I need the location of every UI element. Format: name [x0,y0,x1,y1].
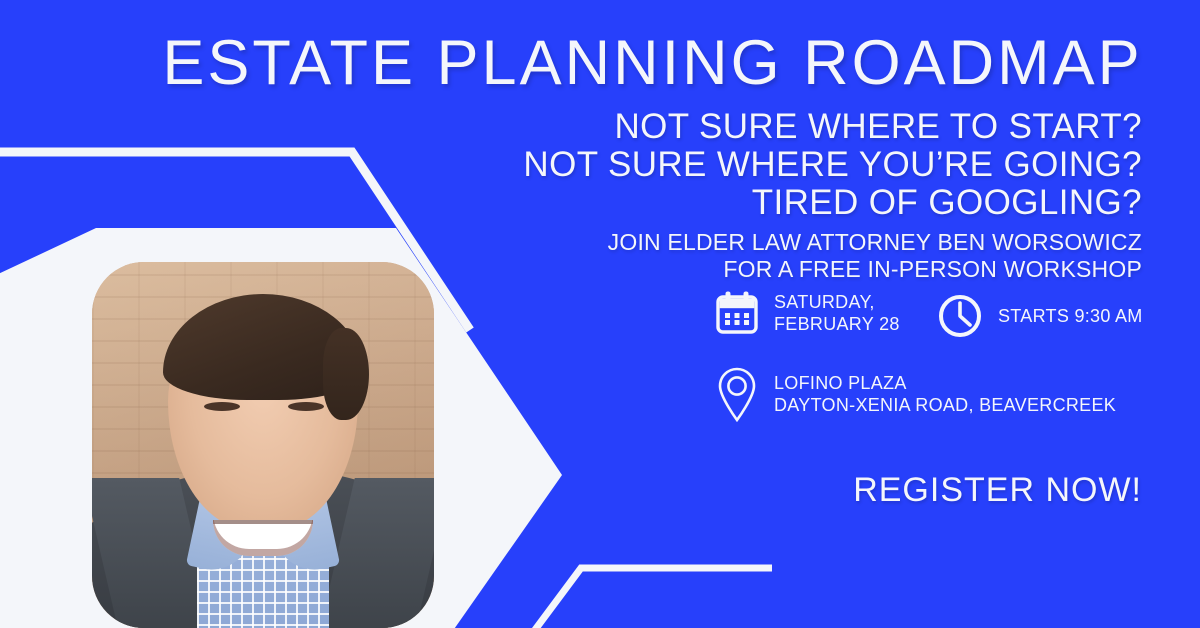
event-date-row: SATURDAY, FEBRUARY 28 [714,290,900,336]
lead-line-1: JOIN ELDER LAW ATTORNEY BEN WORSOWICZ [422,229,1142,256]
event-date-line-1: SATURDAY, [774,291,900,313]
event-poster: ESTATE PLANNING ROADMAP NOT SURE WHERE T… [0,0,1200,628]
event-time-row: STARTS 9:30 AM [936,292,1143,340]
poster-subheadline: NOT SURE WHERE TO START? NOT SURE WHERE … [422,108,1142,222]
subheadline-line-3: TIRED OF GOOGLING? [422,184,1142,222]
event-date-line-2: FEBRUARY 28 [774,313,900,335]
event-time-line-1: STARTS 9:30 AM [998,305,1143,327]
event-location-line-2: DAYTON-XENIA ROAD, BEAVERCREEK [774,394,1116,416]
calendar-icon [714,290,760,336]
photo-eye-right [288,402,324,411]
event-location-row: LOFINO PLAZA DAYTON-XENIA ROAD, BEAVERCR… [714,366,1116,422]
speaker-photo [92,262,434,628]
event-location-text: LOFINO PLAZA DAYTON-XENIA ROAD, BEAVERCR… [774,372,1116,416]
poster-lead: JOIN ELDER LAW ATTORNEY BEN WORSOWICZ FO… [422,229,1142,283]
event-date-text: SATURDAY, FEBRUARY 28 [774,291,900,335]
subheadline-line-2: NOT SURE WHERE YOU’RE GOING? [422,146,1142,184]
poster-title: ESTATE PLANNING ROADMAP [160,28,1145,98]
photo-eye-left [204,402,240,411]
event-time-text: STARTS 9:30 AM [998,305,1143,327]
subheadline-line-1: NOT SURE WHERE TO START? [422,108,1142,146]
register-now-cta[interactable]: REGISTER NOW! [422,470,1142,510]
lead-line-2: FOR A FREE IN-PERSON WORKSHOP [422,256,1142,283]
map-pin-icon [714,366,760,422]
clock-icon [936,292,984,340]
event-location-line-1: LOFINO PLAZA [774,372,1116,394]
hexagon-outline-bottom [520,568,772,628]
